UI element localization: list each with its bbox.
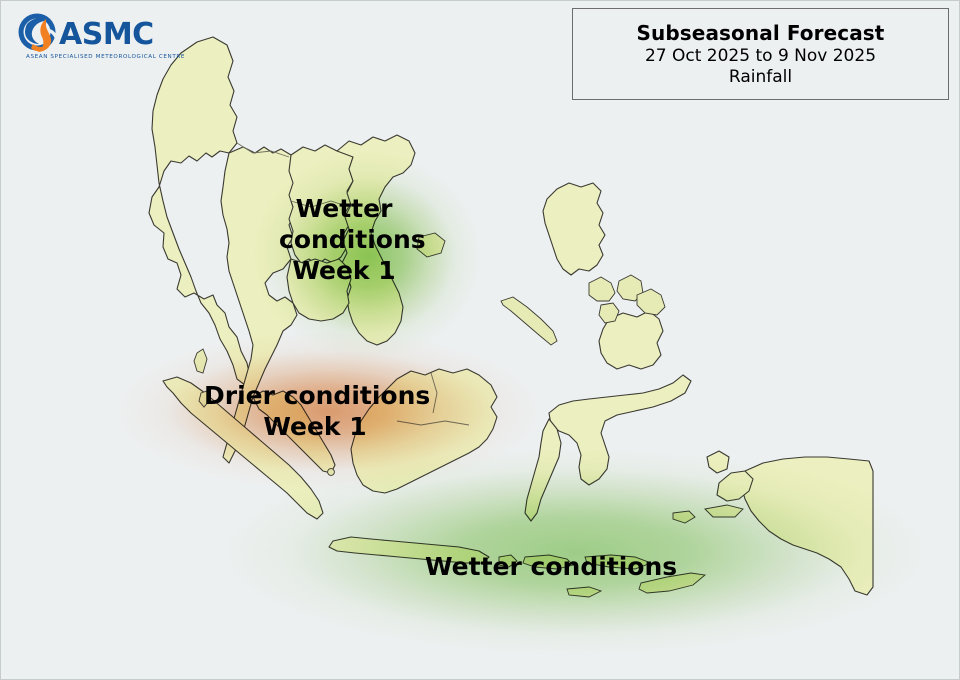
forecast-heading: Subseasonal Forecast: [637, 21, 885, 45]
island-sulawesi: [549, 375, 691, 485]
asmc-logo-mark: [19, 14, 59, 55]
annotation-line: conditions: [279, 224, 409, 255]
island-sulawesi-south-arm: [525, 419, 561, 521]
asmc-wordmark: ASMC: [59, 17, 154, 52]
asmc-logo: ASMC ASEAN SPECIALISED METEOROLOGICAL CE…: [15, 10, 195, 62]
marker-singapore: [328, 469, 335, 476]
asmc-tagline: ASEAN SPECIALISED METEOROLOGICAL CENTRE: [26, 54, 185, 60]
island-samar: [637, 289, 665, 315]
island-andaman: [194, 349, 207, 373]
island-visayas-1: [589, 277, 615, 301]
annotation-wetter-south: Wetter conditions: [425, 551, 673, 582]
forecast-title-box: Subseasonal Forecast 27 Oct 2025 to 9 No…: [572, 8, 949, 100]
asmc-logo-svg: ASMC ASEAN SPECIALISED METEOROLOGICAL CE…: [15, 10, 195, 62]
island-sumba: [567, 587, 601, 597]
annotation-line: Drier conditions: [204, 380, 426, 411]
annotation-wetter-week1: Wetter conditions Week 1: [279, 193, 409, 286]
island-palawan: [501, 297, 557, 345]
forecast-variable: Rainfall: [729, 67, 792, 87]
annotation-line: Wetter: [279, 193, 409, 224]
annotation-line: Week 1: [204, 411, 426, 442]
annotation-line: Week 1: [279, 255, 409, 286]
island-seram: [705, 505, 743, 517]
island-new-guinea: [741, 457, 873, 595]
forecast-map-figure: Wetter conditions Week 1 Drier condition…: [0, 0, 960, 680]
island-halmahera: [707, 451, 729, 473]
island-luzon: [543, 183, 605, 275]
annotation-drier-week1: Drier conditions Week 1: [204, 380, 426, 442]
annotation-line: Wetter conditions: [425, 551, 673, 582]
forecast-period: 27 Oct 2025 to 9 Nov 2025: [645, 46, 876, 66]
island-buru: [673, 511, 695, 523]
